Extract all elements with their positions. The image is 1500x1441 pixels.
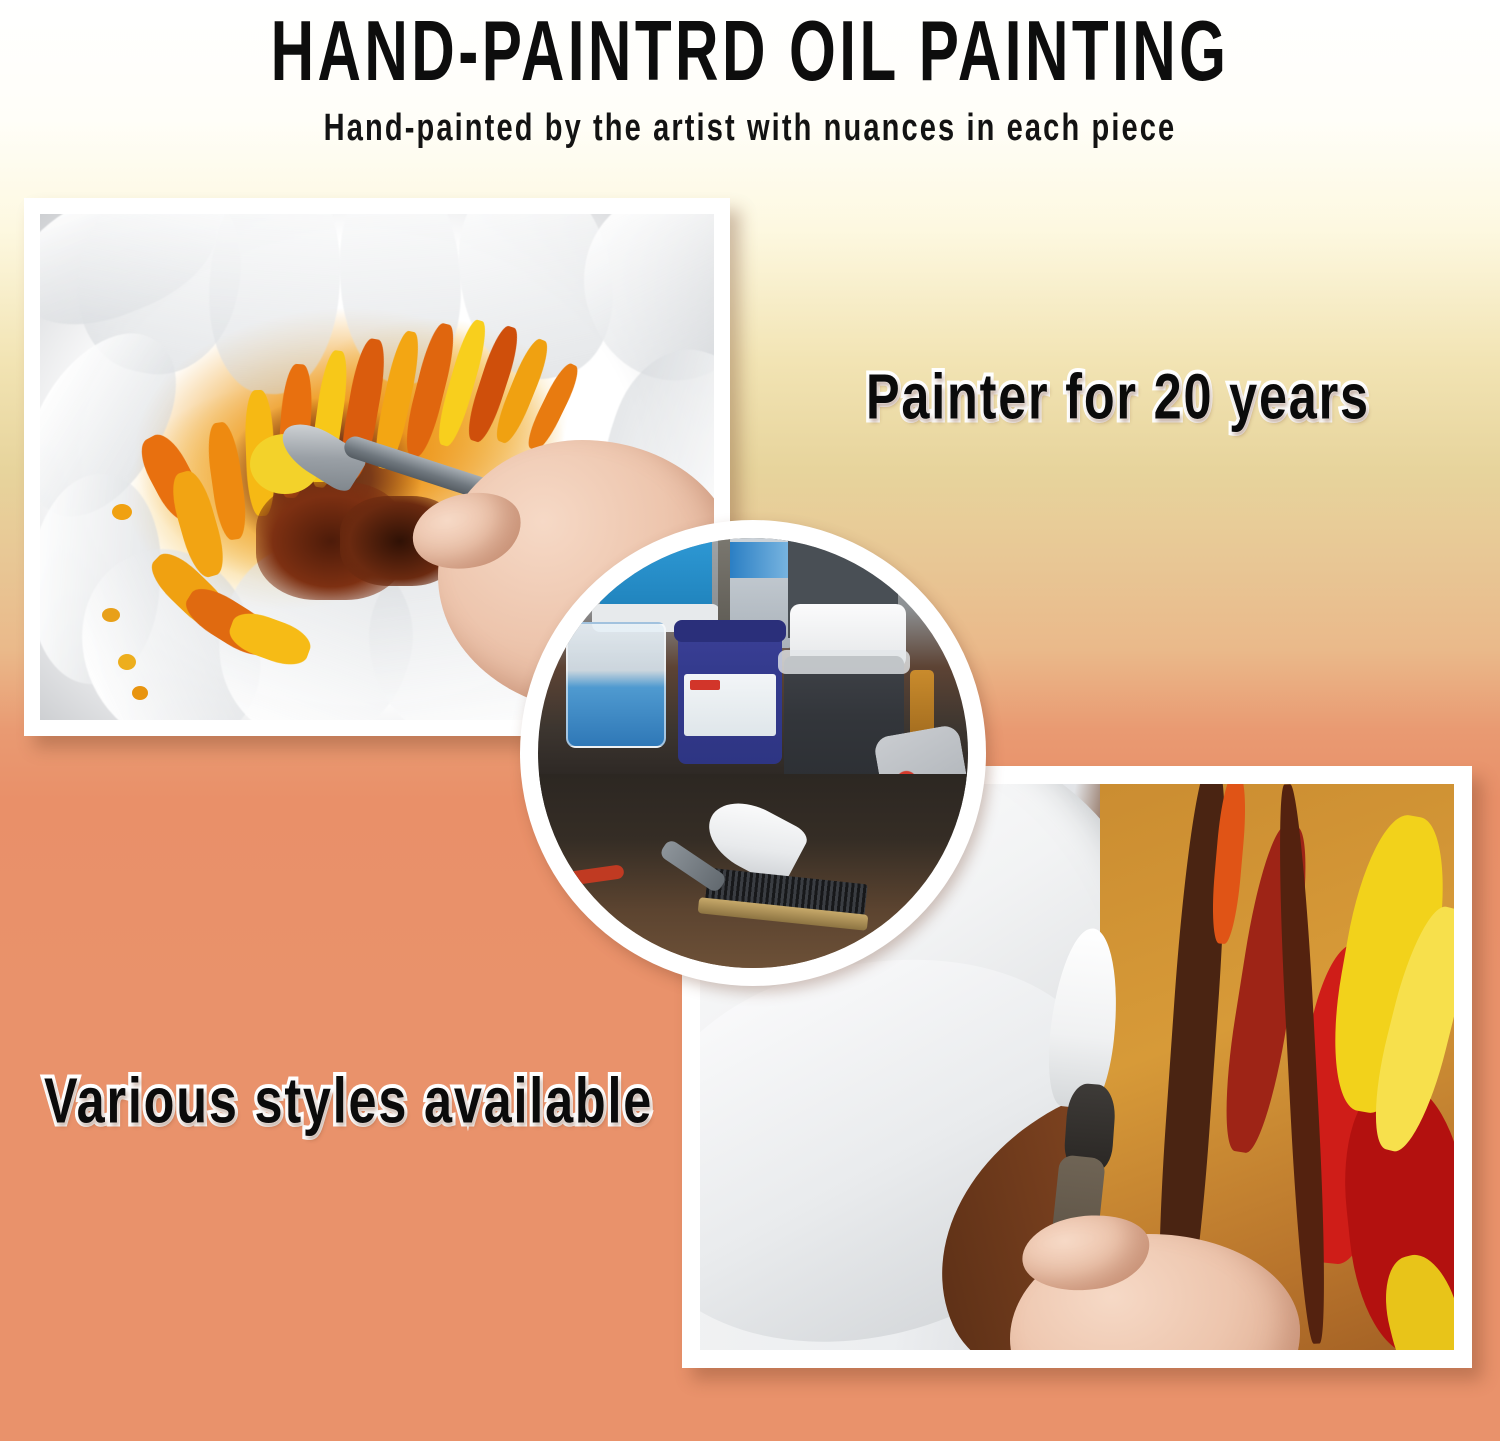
label-brand-mark [690, 680, 720, 690]
poster-canvas: HAND-PAINTRD OIL PAINTING Hand-painted b… [0, 0, 1500, 1441]
paint-dot [132, 686, 148, 700]
caption-painter-for-20-years: Painter for 20 years [866, 358, 1370, 436]
bottle-label [730, 542, 794, 578]
paint-jar-light-blue [566, 622, 666, 748]
paint-dot [112, 504, 132, 520]
page-subtitle: Hand-painted by the artist with nuances … [90, 104, 1410, 150]
paint-jar-charcoal-rim [778, 650, 910, 674]
paint-jar-navy-rim [674, 620, 786, 642]
photo-frame-studio-jars [520, 520, 986, 986]
paint-dot [118, 654, 136, 670]
paint-dot [102, 608, 120, 622]
studio-jars-image [538, 538, 968, 968]
page-title: HAND-PAINTRD OIL PAINTING [105, 2, 1395, 100]
studio-bench-artwork [538, 538, 968, 968]
caption-various-styles-available: Various styles available [44, 1062, 653, 1140]
